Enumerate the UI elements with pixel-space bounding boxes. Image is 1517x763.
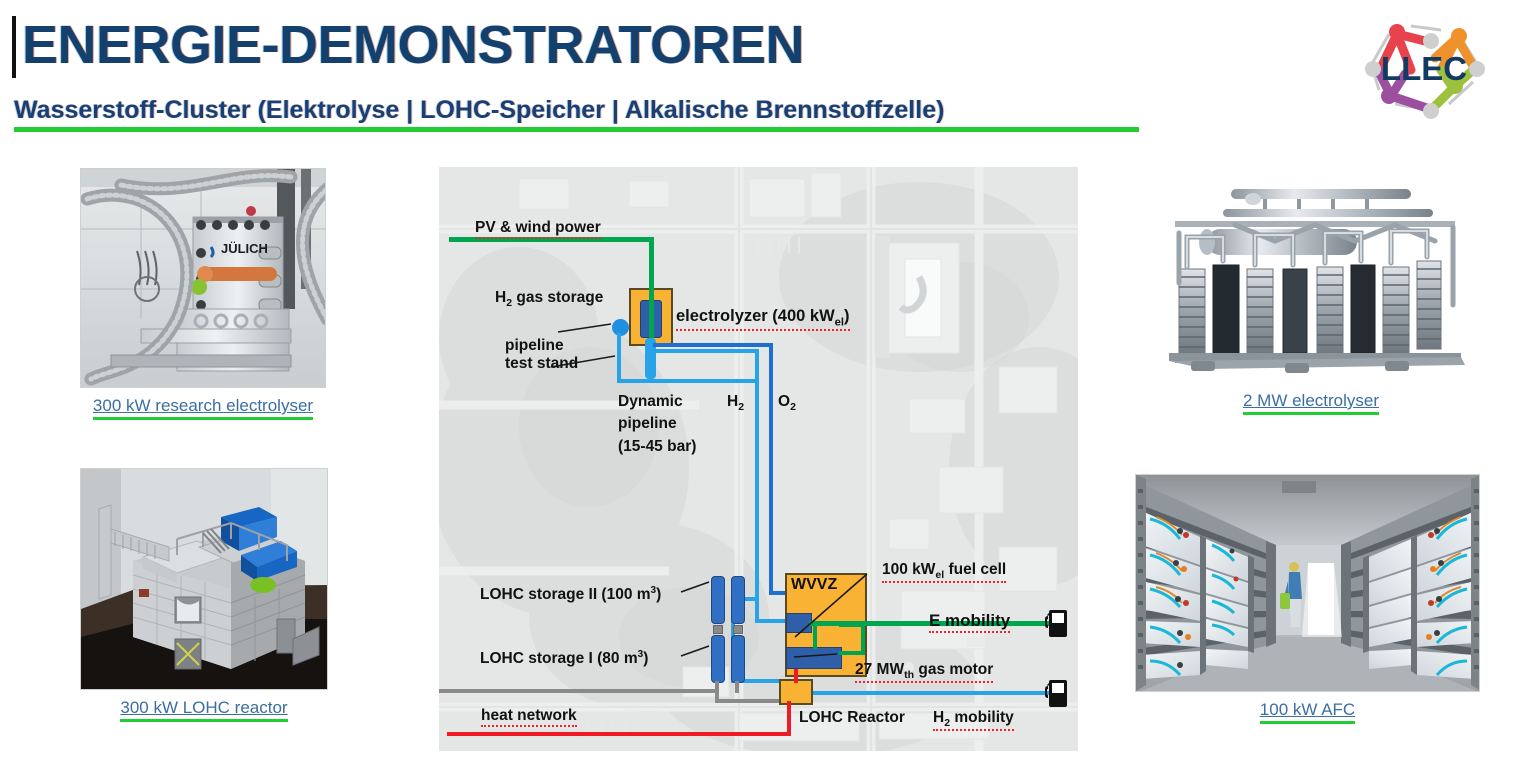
label-fuel-cell: 100 kWel fuel cell	[882, 561, 1006, 583]
label-h2-gas-storage: H2 gas storage	[495, 289, 603, 309]
label-lohc-storage-1: LOHC storage I (80 m3)	[480, 649, 648, 668]
photo-card-2mw-electrolyser: 2 MW electrolyser	[1135, 165, 1487, 415]
research-electrolyser-photo: JÜLICH	[80, 168, 326, 388]
afc-render	[1135, 474, 1480, 692]
hydrogen-cluster-diagram: WVVZ	[439, 167, 1078, 751]
label-pipeline-test-stand: pipeline test stand	[505, 337, 578, 373]
photo-card-research-electrolyser: JÜLICH	[80, 168, 326, 420]
subtitle-underline	[14, 127, 1139, 132]
label-lohc-storage-2: LOHC storage II (100 m3)	[480, 585, 661, 604]
label-h2-mobility: H2 mobility	[933, 709, 1014, 731]
title-accent-bar	[12, 16, 16, 78]
caption-2mw-electrolyser: 2 MW electrolyser	[1243, 391, 1379, 415]
llec-logo: LLEC	[1349, 12, 1499, 124]
subtitle-block: Wasserstoff-Cluster (Elektrolyse | LOHC-…	[14, 96, 1139, 132]
label-h2-stream: H2	[727, 393, 744, 413]
label-e-mobility: E mobility	[929, 611, 1010, 633]
label-lohc-reactor: LOHC Reactor	[799, 709, 905, 727]
label-gas-motor: 27 MWth gas motor	[855, 661, 993, 683]
lohc-reactor-render	[80, 468, 328, 690]
svg-text:JÜLICH: JÜLICH	[221, 241, 268, 256]
label-heat-network: heat network	[481, 707, 577, 727]
label-o2-stream: O2	[778, 393, 796, 413]
caption-lohc-reactor: 300 kW LOHC reactor	[120, 698, 287, 722]
llec-logo-text: LLEC	[1381, 50, 1467, 87]
label-pv-wind-power: PV & wind power	[475, 219, 601, 239]
label-dynamic-pipeline: Dynamic pipeline (15-45 bar)	[618, 391, 696, 458]
label-electrolyzer: electrolyzer (400 kWel)	[676, 307, 850, 331]
caption-research-electrolyser: 300 kW research electrolyser	[93, 396, 313, 420]
caption-afc: 100 kW AFC	[1260, 700, 1355, 724]
2mw-electrolyser-photo	[1135, 165, 1487, 383]
page-subtitle: Wasserstoff-Cluster (Elektrolyse | LOHC-…	[14, 96, 1139, 125]
photo-card-lohc-reactor: 300 kW LOHC reactor	[80, 468, 328, 722]
photo-card-afc: 100 kW AFC	[1135, 474, 1480, 724]
page-title: ENERGIE-DEMONSTRATOREN	[22, 14, 804, 76]
